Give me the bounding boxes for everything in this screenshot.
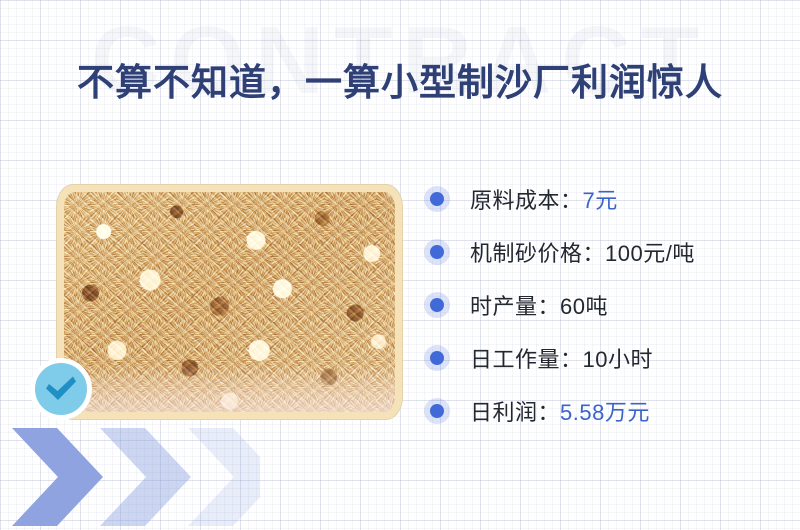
list-item-value: 60吨 [560,294,608,319]
list-item: 时产量：60吨 [424,278,784,331]
photo-frame [57,185,402,419]
list-item: 日利润：5.58万元 [424,384,784,437]
page-title: 不算不知道，一算小型制沙厂利润惊人 [0,52,800,106]
photo-image-sand-texture [64,192,395,412]
bullet-dot-icon [424,345,450,371]
chevron-decoration-group [0,424,260,530]
chevron-right-icon-2 [100,428,191,526]
photo-bottom-tint [64,364,395,412]
bullet-dot-icon [424,186,450,212]
list-item-value: 7元 [583,188,618,213]
list-item-value: 100元/吨 [605,241,695,266]
spec-list: 原料成本：7元 机制砂价格：100元/吨 时产量：60吨 日工作量：10小时 日… [424,172,784,437]
check-icon [44,375,78,403]
bullet-dot-icon [424,398,450,424]
product-photo [57,185,402,419]
list-item-text: 日利润：5.58万元 [470,395,650,427]
bullet-dot-icon [424,292,450,318]
chevron-right-icon-1 [12,428,103,526]
list-item-text: 原料成本：7元 [470,183,618,215]
list-item: 原料成本：7元 [424,172,784,225]
slide-canvas: CONTRACT 不算不知道，一算小型制沙厂利润惊人 原料成本：7元 机制砂价格… [0,0,800,530]
list-item: 日工作量：10小时 [424,331,784,384]
chevron-right-icon-3 [188,428,260,526]
list-item: 机制砂价格：100元/吨 [424,225,784,278]
list-item-text: 机制砂价格：100元/吨 [470,236,695,268]
list-item-text: 时产量：60吨 [470,289,608,321]
list-item-value: 5.58万元 [560,400,650,425]
list-item-value: 10小时 [583,347,653,372]
bullet-dot-icon [424,239,450,265]
check-badge [30,358,92,420]
list-item-text: 日工作量：10小时 [470,342,653,374]
